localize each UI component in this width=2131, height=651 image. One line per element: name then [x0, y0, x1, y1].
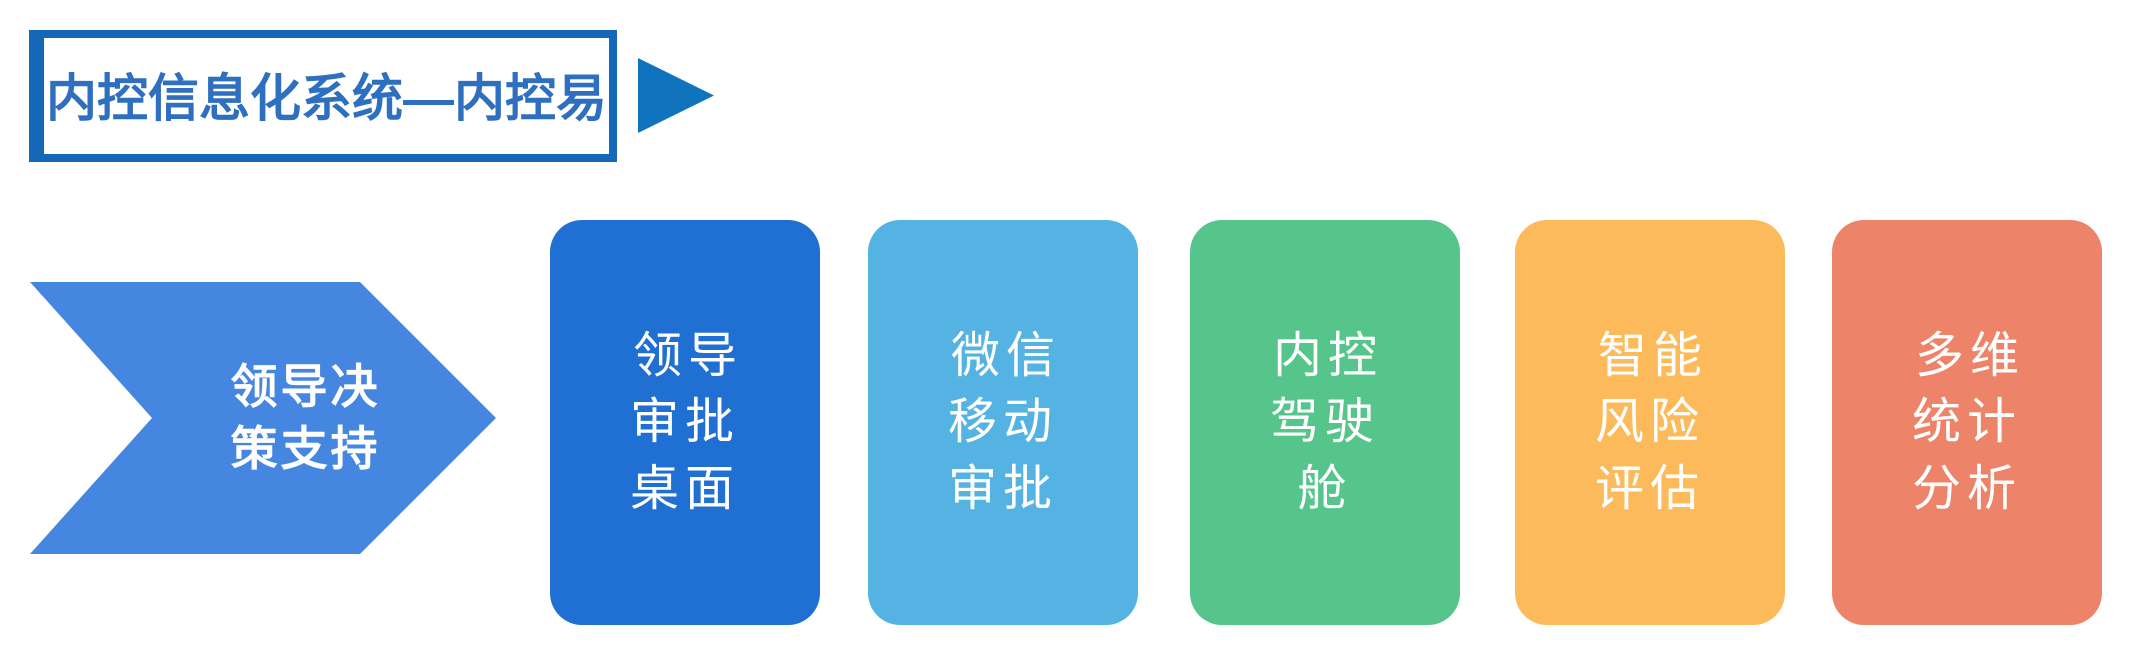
- card-leader-approval-desktop[interactable]: 领导 审批 桌面: [550, 220, 820, 625]
- chevron-shape: [30, 282, 496, 554]
- card-smart-risk-assessment[interactable]: 智能 风险 评估: [1515, 220, 1785, 625]
- card-label: 内控 驾驶 舱: [1267, 323, 1383, 521]
- page-title: 内控信息化系统—内控易: [46, 73, 607, 124]
- card-label: 智能 风险 评估: [1592, 323, 1708, 521]
- card-label: 领导 审批 桌面: [627, 323, 743, 521]
- card-multi-dimension-analysis[interactable]: 多维 统计 分析: [1832, 220, 2102, 625]
- card-label: 微信 移动 审批: [945, 323, 1061, 521]
- card-wechat-mobile-approval[interactable]: 微信 移动 审批: [868, 220, 1138, 625]
- play-triangle-icon: [638, 58, 714, 133]
- card-internal-control-cockpit[interactable]: 内控 驾驶 舱: [1190, 220, 1460, 625]
- title-banner: 内控信息化系统—内控易: [29, 30, 617, 162]
- play-triangle-shape: [638, 58, 714, 133]
- diagram-canvas: 内控信息化系统—内控易 领导决 策支持 领导 审批 桌面 微信 移动 审批 内控…: [0, 0, 2131, 651]
- chevron-leader-decision-support: 领导决 策支持: [30, 282, 496, 554]
- card-label: 多维 统计 分析: [1909, 323, 2025, 521]
